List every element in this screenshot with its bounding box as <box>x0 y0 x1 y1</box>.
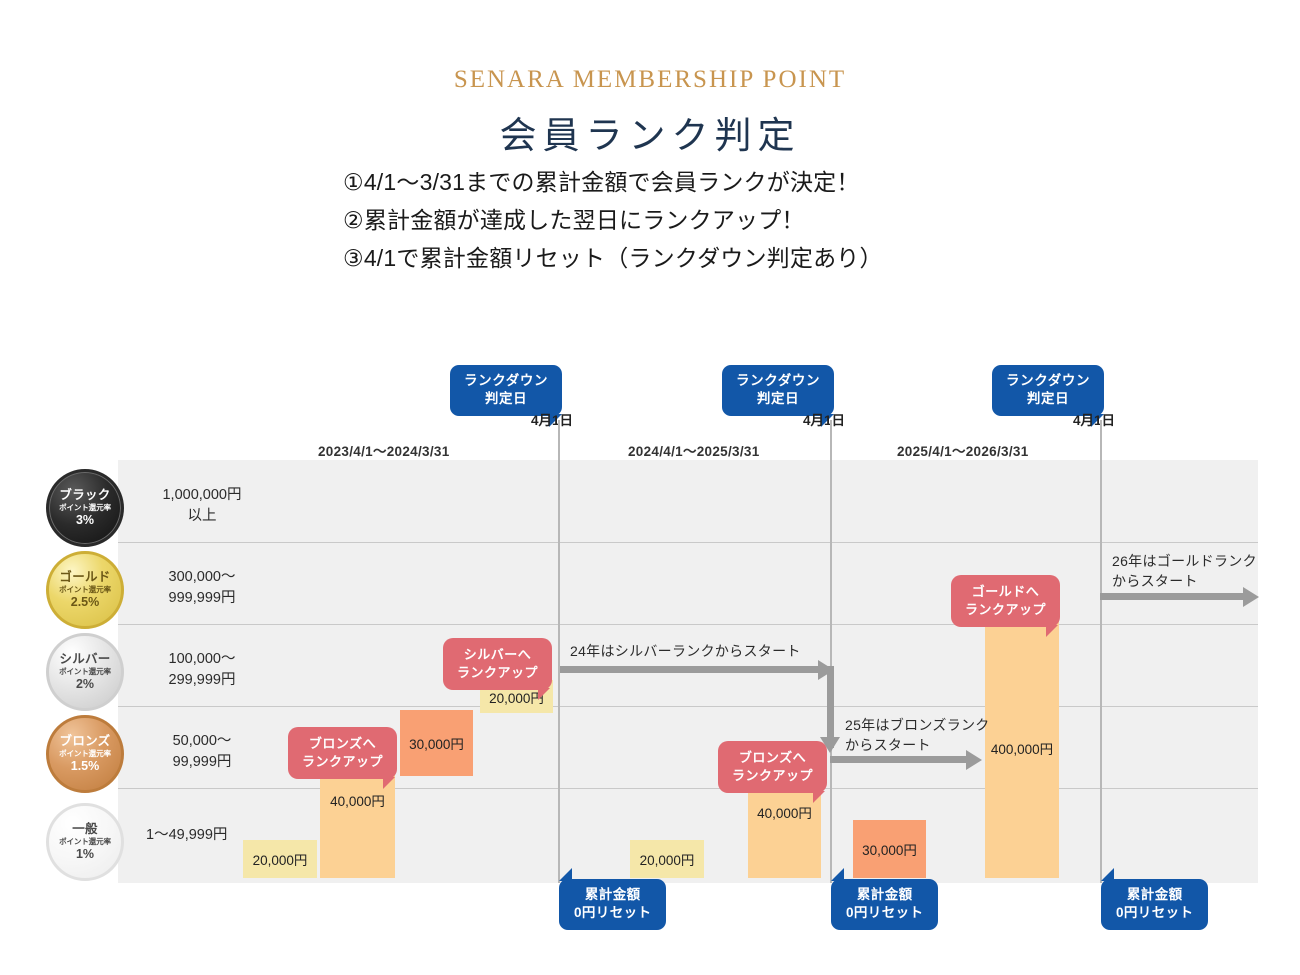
threshold-line1: 1,000,000円 <box>146 485 258 506</box>
reset-line2: 0円リセット <box>846 904 923 922</box>
rank-up-line1: ゴールドへ <box>965 583 1046 601</box>
carryover-note-3: 26年はゴールドランク からスタート <box>1112 552 1257 591</box>
divider-fiscal-year-2 <box>830 420 832 883</box>
rank-up-line2: ランクアップ <box>732 767 813 785</box>
threshold-line2: 以上 <box>146 506 258 527</box>
rank-up-callout-silver-p1: シルバーへ ランクアップ <box>443 638 552 690</box>
threshold-line1: 100,000〜 <box>146 649 258 670</box>
reset-line2: 0円リセット <box>574 904 651 922</box>
tier-rate-value: 2.5% <box>71 596 100 610</box>
tier-threshold-bronze: 50,000〜 99,999円 <box>146 731 258 773</box>
carryover-arrow-3-shaft <box>1100 593 1248 600</box>
rule-item-3: ③4/1で累計金額リセット（ランクダウン判定あり） <box>343 239 883 277</box>
tier-band-gold <box>118 542 1258 624</box>
rank-down-date-2: 4月1日 <box>803 409 845 429</box>
bar-p2-s2: 40,000円 <box>748 782 821 878</box>
rank-down-label-line1: ランクダウン <box>736 372 820 390</box>
tier-rate-label: ポイント還元率 <box>59 750 111 758</box>
rank-up-line2: ランクアップ <box>457 664 538 682</box>
brand-eyebrow: SENARA MEMBERSHIP POINT <box>0 66 1300 94</box>
rank-up-callout-bronze-p1: ブロンズへ ランクアップ <box>288 727 397 779</box>
tier-badge-black: ブラック ポイント還元率 3% <box>46 469 124 547</box>
reset-line1: 累計金額 <box>574 886 651 904</box>
carryover-note-2-line1: 25年はブロンズランク <box>845 716 990 736</box>
carryover-note-1: 24年はシルバーランクからスタート <box>570 642 801 662</box>
callout-tail <box>831 868 844 881</box>
callout-tail <box>813 791 825 803</box>
tier-name: ブラック <box>59 489 110 503</box>
tier-rate-value: 1.5% <box>71 760 100 774</box>
divider-fiscal-year-3 <box>1100 420 1102 883</box>
rank-down-date-3: 4月1日 <box>1073 409 1115 429</box>
page-title: 会員ランク判定 <box>0 105 1300 159</box>
tier-rate-label: ポイント還元率 <box>59 668 111 676</box>
carryover-note-3-line2: からスタート <box>1112 572 1257 592</box>
tier-rate-value: 2% <box>76 678 94 692</box>
period-label-2: 2024/4/1〜2025/3/31 <box>628 440 760 460</box>
threshold-line1: 300,000〜 <box>146 567 258 588</box>
reset-callout-1: 累計金額 0円リセット <box>559 879 666 930</box>
rule-item-2: ②累計金額が達成した翌日にランクアップ！ <box>343 201 883 239</box>
rule-item-1: ①4/1〜3/31までの累計金額で会員ランクが決定！ <box>343 163 883 201</box>
rank-down-label-line2: 判定日 <box>464 390 548 408</box>
carryover-arrow-1-shaft <box>560 666 830 673</box>
carryover-arrow-2-head <box>966 750 982 770</box>
threshold-line2: 299,999円 <box>146 670 258 691</box>
tier-name: ブロンズ <box>60 735 111 749</box>
reset-line2: 0円リセット <box>1116 904 1193 922</box>
bar-p1-s3: 30,000円 <box>400 710 473 776</box>
threshold-line1: 1〜49,999円 <box>146 825 258 846</box>
bar-p3-s1: 30,000円 <box>853 820 926 878</box>
bar-p2-s1: 20,000円 <box>630 840 704 878</box>
rules-list: ①4/1〜3/31までの累計金額で会員ランクが決定！ ②累計金額が達成した翌日に… <box>343 163 883 278</box>
rank-down-label-line1: ランクダウン <box>464 372 548 390</box>
tier-band-silver <box>118 624 1258 706</box>
callout-tail <box>559 868 572 881</box>
tier-threshold-general: 1〜49,999円 <box>146 825 258 846</box>
callout-tail <box>538 688 550 700</box>
rank-up-line1: ブロンズへ <box>732 749 813 767</box>
callout-tail <box>1046 625 1058 637</box>
reset-callout-2: 累計金額 0円リセット <box>831 879 938 930</box>
tier-band-black <box>118 460 1258 542</box>
carryover-note-3-line1: 26年はゴールドランク <box>1112 552 1257 572</box>
threshold-line2: 99,999円 <box>146 752 258 773</box>
period-label-1: 2023/4/1〜2024/3/31 <box>318 440 450 460</box>
tier-rate-value: 3% <box>76 514 94 528</box>
tier-rate-value: 1% <box>76 848 94 862</box>
bar-p3-s2: 400,000円 <box>985 618 1059 878</box>
tier-threshold-silver: 100,000〜 299,999円 <box>146 649 258 691</box>
divider-fiscal-year-1 <box>558 420 560 883</box>
carryover-arrow-3-head <box>1243 587 1259 607</box>
rank-up-line2: ランクアップ <box>965 601 1046 619</box>
rank-up-callout-bronze-p2: ブロンズへ ランクアップ <box>718 741 827 793</box>
bar-p1-s1: 20,000円 <box>243 840 317 878</box>
carryover-arrow-2-shaft <box>830 756 975 763</box>
tier-rate-label: ポイント還元率 <box>59 838 111 846</box>
tier-badge-general: 一般 ポイント還元率 1% <box>46 803 124 881</box>
tier-threshold-black: 1,000,000円 以上 <box>146 485 258 527</box>
tier-badge-bronze: ブロンズ ポイント還元率 1.5% <box>46 715 124 793</box>
rank-down-label-line1: ランクダウン <box>1006 372 1090 390</box>
reset-callout-3: 累計金額 0円リセット <box>1101 879 1208 930</box>
rank-down-label-line2: 判定日 <box>736 390 820 408</box>
rank-down-label-line2: 判定日 <box>1006 390 1090 408</box>
carryover-arrow-1-drop <box>827 666 834 748</box>
rank-down-date-1: 4月1日 <box>531 409 573 429</box>
reset-line1: 累計金額 <box>1116 886 1193 904</box>
rank-timeline-chart: ランクダウン 判定日 4月1日 ランクダウン 判定日 4月1日 ランクダウン 判… <box>0 355 1300 935</box>
tier-name: シルバー <box>59 653 110 667</box>
rank-up-line1: シルバーへ <box>457 646 538 664</box>
tier-badge-gold: ゴールド ポイント還元率 2.5% <box>46 551 124 629</box>
rank-up-line1: ブロンズへ <box>302 735 383 753</box>
threshold-line2: 999,999円 <box>146 588 258 609</box>
tier-badge-silver: シルバー ポイント還元率 2% <box>46 633 124 711</box>
threshold-line1: 50,000〜 <box>146 731 258 752</box>
rank-up-callout-gold-p3: ゴールドへ ランクアップ <box>951 575 1060 627</box>
period-label-3: 2025/4/1〜2026/3/31 <box>897 440 1029 460</box>
tier-threshold-gold: 300,000〜 999,999円 <box>146 567 258 609</box>
tier-rate-label: ポイント還元率 <box>59 586 111 594</box>
callout-tail <box>383 777 395 789</box>
rank-up-line2: ランクアップ <box>302 753 383 771</box>
reset-line1: 累計金額 <box>846 886 923 904</box>
tier-name: 一般 <box>72 823 98 837</box>
tier-rate-label: ポイント還元率 <box>59 504 111 512</box>
tier-name: ゴールド <box>59 571 110 585</box>
callout-tail <box>1101 868 1114 881</box>
